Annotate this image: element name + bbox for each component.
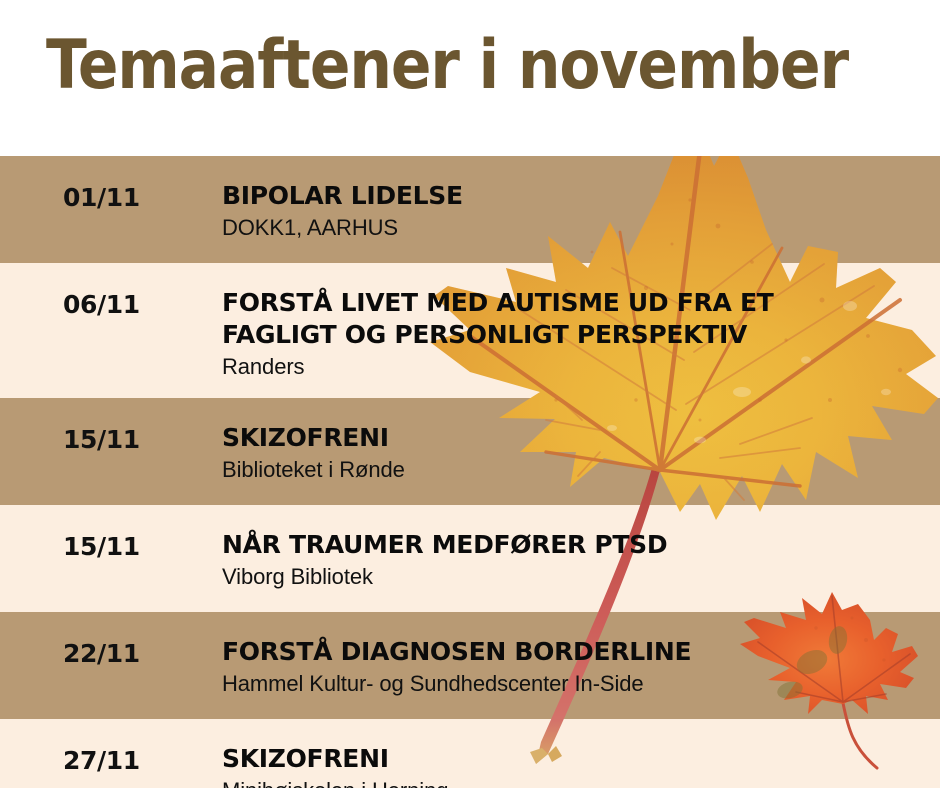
row-body: BIPOLAR LIDELSE DOKK1, AARHUS: [222, 180, 930, 243]
row-title: NÅR TRAUMER MEDFØRER PTSD: [222, 529, 930, 561]
row-date: 22/11: [63, 639, 140, 668]
page-title: Temaaftener i november: [46, 30, 848, 101]
row-venue: Viborg Bibliotek: [222, 563, 930, 592]
schedule-row[interactable]: 06/11 FORSTÅ LIVET MED AUTISME UD FRA ET…: [0, 263, 940, 398]
row-date: 15/11: [63, 425, 140, 454]
row-date: 27/11: [63, 746, 140, 775]
row-venue: Hammel Kultur- og Sundhedscenter In-Side: [222, 670, 930, 699]
row-body: SKIZOFRENI Biblioteket i Rønde: [222, 422, 930, 485]
row-body: FORSTÅ DIAGNOSEN BORDERLINE Hammel Kultu…: [222, 636, 930, 699]
schedule-row[interactable]: 15/11 SKIZOFRENI Biblioteket i Rønde: [0, 398, 940, 505]
row-date: 06/11: [63, 290, 140, 319]
schedule-row[interactable]: 27/11 SKIZOFRENI Minihøjskolen i Herning: [0, 719, 940, 788]
row-venue: Randers: [222, 353, 930, 382]
schedule-row[interactable]: 22/11 FORSTÅ DIAGNOSEN BORDERLINE Hammel…: [0, 612, 940, 719]
schedule-list: 01/11 BIPOLAR LIDELSE DOKK1, AARHUS 06/1…: [0, 156, 940, 788]
row-date: 15/11: [63, 532, 140, 561]
row-body: SKIZOFRENI Minihøjskolen i Herning: [222, 743, 930, 788]
row-title: SKIZOFRENI: [222, 422, 930, 454]
schedule-row[interactable]: 01/11 BIPOLAR LIDELSE DOKK1, AARHUS: [0, 156, 940, 263]
row-title: SKIZOFRENI: [222, 743, 930, 775]
row-title: BIPOLAR LIDELSE: [222, 180, 930, 212]
row-date: 01/11: [63, 183, 140, 212]
row-venue: DOKK1, AARHUS: [222, 214, 930, 243]
row-body: NÅR TRAUMER MEDFØRER PTSD Viborg Bibliot…: [222, 529, 930, 592]
poster-header: Temaaftener i november: [0, 0, 940, 156]
row-venue: Biblioteket i Rønde: [222, 456, 930, 485]
row-title-line-1: FORSTÅ LIVET MED AUTISME UD FRA ET: [222, 287, 930, 319]
row-title: FORSTÅ DIAGNOSEN BORDERLINE: [222, 636, 930, 668]
schedule-row[interactable]: 15/11 NÅR TRAUMER MEDFØRER PTSD Viborg B…: [0, 505, 940, 612]
row-title-line-2: FAGLIGT OG PERSONLIGT PERSPEKTIV: [222, 319, 930, 351]
row-venue: Minihøjskolen i Herning: [222, 777, 930, 788]
poster-canvas: Temaaftener i november 01/11 BIPOLAR LID…: [0, 0, 940, 788]
row-body: FORSTÅ LIVET MED AUTISME UD FRA ET FAGLI…: [222, 287, 930, 382]
